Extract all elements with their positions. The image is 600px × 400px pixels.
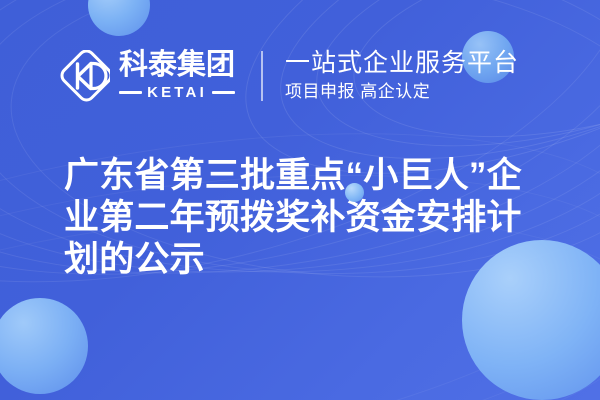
decor-orb-top-left [88,0,150,36]
tagline-main-text: 一站式企业服务平台 [285,49,519,78]
banner-poster: 科泰集团 KETAI 一站式企业服务平台 项目申报 高企认定 广东省第三批重点“… [0,0,600,400]
logo-wordmark: 科泰集团 KETAI [119,51,235,101]
decor-orb-quote-dot [345,183,364,202]
tagline-sub-text: 项目申报 高企认定 [285,81,519,103]
logo-rule-right-icon [212,91,235,94]
logo-company-name-en-row: KETAI [119,84,235,101]
tagline-block: 一站式企业服务平台 项目申报 高企认定 [285,49,519,104]
vertical-divider-icon [261,51,263,101]
logo-company-name-cn: 科泰集团 [119,51,235,81]
logo-company-name-en: KETAI [147,84,207,101]
decor-orb-bottom-left [0,298,88,394]
company-logo[interactable]: 科泰集团 KETAI [58,50,235,102]
page-title: 广东省第三批重点“小巨人”企业第二年预拨奖补资金安排计划的公示 [64,155,548,281]
banner-header: 科泰集团 KETAI 一站式企业服务平台 项目申报 高企认定 [0,38,600,114]
ketai-diamond-kd-monogram-icon [58,50,110,102]
logo-rule-left-icon [119,91,142,94]
